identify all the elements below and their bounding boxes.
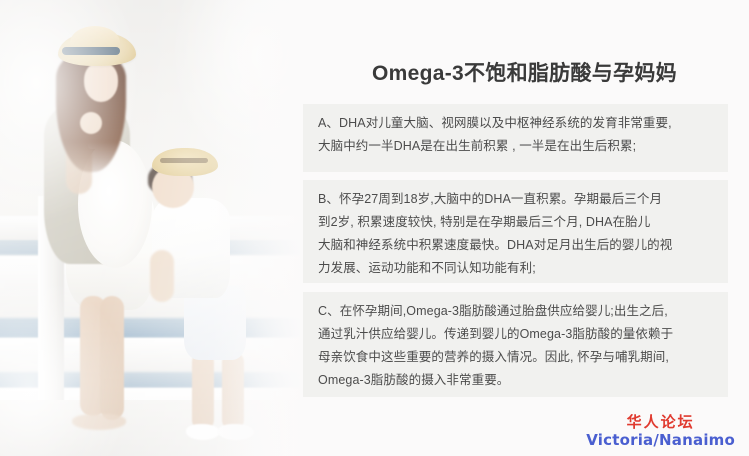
photo-scene [0, 0, 300, 456]
panel-a-line-2: 大脑中约一半DHA是在出生前积累 , 一半是在出生后积累; [318, 135, 714, 158]
boy-shoe-left [186, 424, 220, 440]
watermark-english-text: Victoria/Nanaimo [586, 433, 735, 448]
info-panel-b: B、怀孕27周到18岁,大脑中的DHA一直积累。孕期最后三个月 到2岁, 积累速… [303, 180, 728, 283]
panel-c-line-4: Omega-3脂肪酸的摄入非常重要。 [318, 369, 714, 392]
panel-b-line-3: 大脑和神经系统中积累速度最快。DHA对足月出生后的婴儿的视 [318, 234, 714, 257]
panel-b-line-4: 力发展、运动功能和不同认知功能有利; [318, 257, 714, 280]
boy-leg-left [192, 352, 214, 430]
panel-c-line-1: C、在怀孕期间,Omega-3脂肪酸通过胎盘供应给婴儿;出生之后, [318, 300, 714, 323]
boy-shoe-right [218, 424, 254, 440]
mother-leg-right [100, 296, 124, 420]
page-title: Omega-3不饱和脂肪酸与孕妈妈 [300, 57, 749, 87]
boy-leg-right [222, 352, 244, 430]
panel-b-line-2: 到2岁, 积累速度较快, 特别是在孕期最后三个月, DHA在胎儿 [318, 211, 714, 234]
boy-hat-band [160, 158, 208, 163]
info-panel-a: A、DHA对儿童大脑、视网膜以及中枢神经系统的发育非常重要, 大脑中约一半DHA… [303, 104, 728, 172]
slide-canvas: Omega-3不饱和脂肪酸与孕妈妈 A、DHA对儿童大脑、视网膜以及中枢神经系统… [0, 0, 749, 456]
panel-a-line-1: A、DHA对儿童大脑、视网膜以及中枢神经系统的发育非常重要, [318, 112, 714, 135]
panel-b-line-1: B、怀孕27周到18岁,大脑中的DHA一直积累。孕期最后三个月 [318, 188, 714, 211]
panel-c-line-2: 通过乳汁供应给婴儿。传递到婴儿的Omega-3脂肪酸的量依赖于 [318, 323, 714, 346]
mother-feet [72, 414, 126, 430]
watermark: 华人论坛 Victoria/Nanaimo [586, 415, 735, 448]
panel-c-line-3: 母亲饮食中这些重要的营养的摄入情况。因此, 怀孕与哺乳期间, [318, 346, 714, 369]
pregnant-mother-and-child-photo [0, 0, 300, 456]
mother-hat-band [62, 47, 120, 55]
info-panel-c: C、在怀孕期间,Omega-3脂肪酸通过胎盘供应给婴儿;出生之后, 通过乳汁供应… [303, 292, 728, 397]
text-column: Omega-3不饱和脂肪酸与孕妈妈 A、DHA对儿童大脑、视网膜以及中枢神经系统… [300, 0, 749, 456]
ground-floor [0, 400, 300, 456]
mother-face [84, 62, 118, 102]
boy-arm [150, 250, 174, 302]
mother-hand [80, 112, 102, 134]
watermark-chinese-text: 华人论坛 [586, 415, 735, 430]
